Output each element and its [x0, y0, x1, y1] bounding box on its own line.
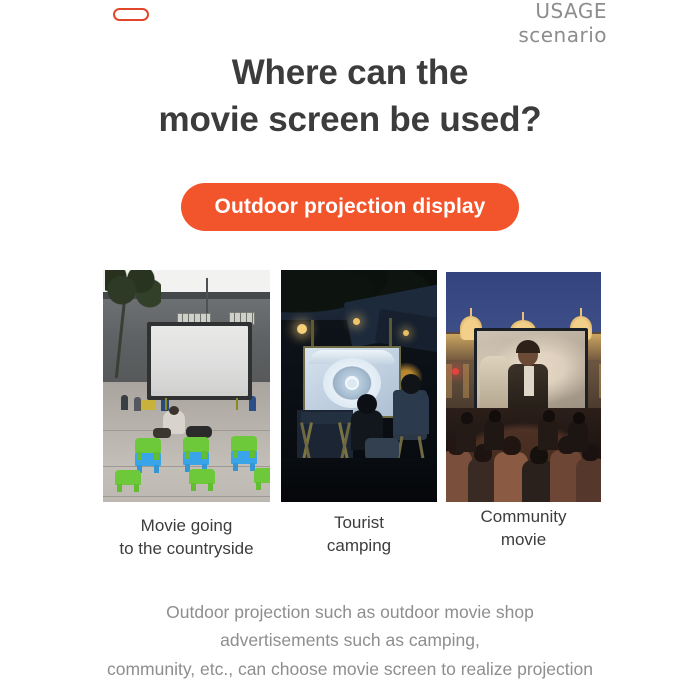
green-stool	[115, 470, 141, 485]
string-light	[403, 330, 409, 336]
audience-member	[456, 420, 476, 452]
caption-line-1: Tourist	[281, 512, 437, 535]
audience-member-head	[502, 436, 521, 455]
footer-line-2: advertisements such as camping,	[0, 626, 700, 654]
footer-line-3: community, etc., can choose movie screen…	[0, 655, 700, 683]
string-light	[297, 324, 307, 334]
green-stool	[135, 438, 161, 453]
projected-film-actor-shirt	[524, 366, 534, 396]
gallery-image-countryside[interactable]	[103, 270, 270, 502]
photo-gallery	[0, 0, 700, 700]
audience-member-head	[573, 412, 585, 424]
caption-line-2: camping	[281, 535, 437, 558]
gallery-caption-camping: Tourist camping	[281, 512, 437, 558]
gallery-caption-community: Community movie	[441, 506, 606, 552]
green-stool	[231, 436, 257, 451]
tree-foliage	[105, 270, 161, 310]
screen-stand-leg	[236, 398, 238, 410]
audience-member	[538, 418, 558, 450]
antenna-pole	[206, 278, 208, 318]
projection-screen-surface	[151, 326, 248, 396]
green-stool	[254, 468, 270, 483]
projected-film-figure	[480, 356, 510, 408]
gallery-image-camping[interactable]	[281, 270, 437, 502]
audience-member	[568, 420, 588, 452]
gallery-image-community[interactable]	[446, 272, 601, 502]
footer-description: Outdoor projection such as outdoor movie…	[0, 598, 700, 683]
gallery-caption-countryside: Movie going to the countryside	[93, 515, 280, 561]
projected-wheel-hub	[347, 379, 357, 388]
string-light	[353, 318, 360, 325]
caption-line-2: movie	[441, 529, 606, 552]
caption-line-1: Community	[441, 506, 606, 529]
seated-viewer-head	[357, 394, 377, 414]
red-light	[452, 368, 459, 375]
person-silhouette	[121, 395, 128, 410]
yellow-object	[141, 400, 155, 410]
person-silhouette	[134, 397, 141, 411]
green-stool	[183, 437, 209, 452]
audience-member	[576, 458, 601, 502]
audience-member	[484, 418, 504, 450]
seated-viewer-head	[401, 374, 421, 394]
caption-line-2: to the countryside	[93, 538, 280, 561]
camping-gear	[365, 438, 399, 460]
audience-member-head	[489, 410, 501, 422]
equipment-bag	[153, 428, 171, 438]
folding-chair-seat	[301, 412, 353, 424]
audience-member-head	[543, 410, 555, 422]
caption-line-1: Movie going	[93, 515, 280, 538]
footer-line-1: Outdoor projection such as outdoor movie…	[0, 598, 700, 626]
green-stool	[189, 469, 215, 484]
screen-stand-leg	[165, 398, 167, 410]
seated-viewer	[393, 390, 429, 434]
seated-person-head	[169, 406, 179, 415]
pavement-seam	[103, 496, 270, 497]
audience-member-head	[461, 412, 473, 424]
dark-ground	[281, 458, 437, 502]
